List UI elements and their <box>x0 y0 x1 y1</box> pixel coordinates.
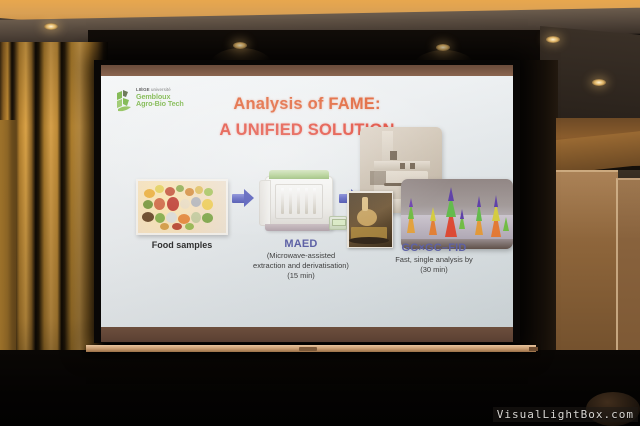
caption-maed: MAED (Microwave-assisted extraction and … <box>231 238 371 280</box>
ceiling-downlight-icon <box>592 79 606 86</box>
screen-bottom-band <box>101 327 513 342</box>
watermark: VisualLightBox.com <box>493 407 638 422</box>
maed-top-panel <box>269 170 329 179</box>
presentation-slide: LIÈGE université Gembloux Agro-Bio Tech … <box>101 76 513 327</box>
panel-sheen <box>556 170 640 240</box>
maed-door <box>259 180 271 226</box>
screen-pull-tab[interactable] <box>299 347 317 351</box>
caption-maed-sub1: (Microwave-assisted <box>231 251 371 260</box>
caption-maed-sub2: extraction and derivatisation) <box>231 261 371 270</box>
slide-title-line1: Analysis of FAME: <box>101 95 513 114</box>
screen-side-tab <box>529 347 538 351</box>
maed-control-panel <box>329 216 347 230</box>
screen-top-band <box>101 65 513 76</box>
maed-base <box>265 224 331 231</box>
ceiling-downlight-icon <box>233 42 247 49</box>
food-samples-photo <box>136 179 228 235</box>
ceiling-downlight-icon <box>44 23 58 30</box>
caption-maed-title: MAED <box>231 238 371 250</box>
caption-food-samples: Food samples <box>127 240 237 250</box>
caption-gcxgc-sub2: (30 min) <box>359 265 509 274</box>
maed-instrument-image <box>259 164 339 240</box>
gcxgc-chromatogram-plot <box>401 179 513 249</box>
ceiling-downlight-icon <box>546 36 560 43</box>
food-photo-content <box>138 181 226 233</box>
slide-title-line2: A UNIFIED SOLUTION <box>101 121 513 140</box>
caption-gcxgc-sub1: Fast, single analysis by <box>359 255 509 264</box>
caption-gcxgc: GC×GC–FID Fast, single analysis by (30 m… <box>359 242 509 274</box>
ceiling-downlight-icon <box>436 44 450 51</box>
caption-gcxgc-title: GC×GC–FID <box>359 242 509 254</box>
caption-maed-sub3: (15 min) <box>231 271 371 280</box>
projection-room-scene: LIÈGE université Gembloux Agro-Bio Tech … <box>0 0 640 426</box>
maed-chamber-window <box>275 184 323 219</box>
